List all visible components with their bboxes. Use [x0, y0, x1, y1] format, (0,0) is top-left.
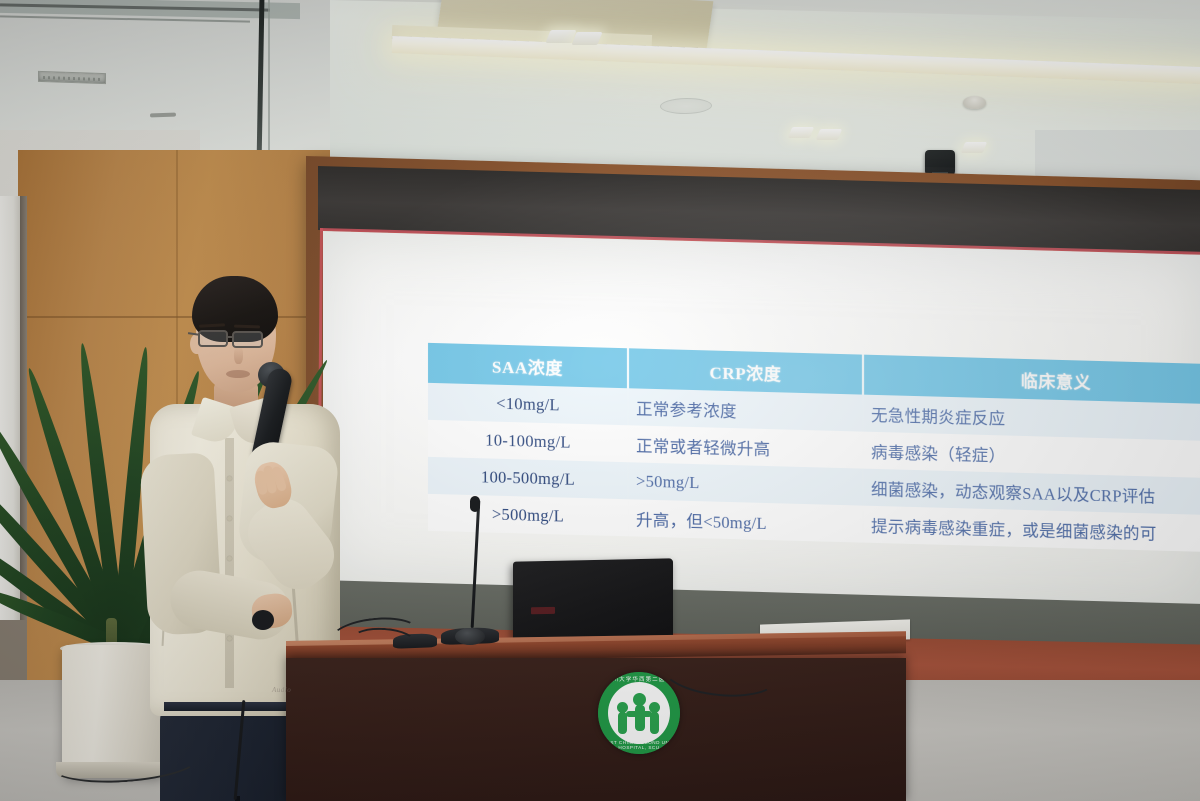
- handheld-microphone-lower: [252, 610, 274, 630]
- ceiling-spotlight-icon: [571, 32, 602, 45]
- shirt-button: [227, 636, 232, 641]
- shirt-button: [227, 556, 232, 561]
- cell-saa: 10-100mg/L: [428, 420, 628, 462]
- slide-table: SAA浓度 CRP浓度 临床意义 <10mg/L 正常参考浓度 无急性期炎症反应…: [428, 343, 1200, 553]
- cell-crp: >50mg/L: [628, 462, 863, 505]
- hospital-logo: 四川大学华西第二医院 WEST CHINA SECOND UNIV. HOSPI…: [598, 672, 680, 754]
- cell-saa: 100-500mg/L: [428, 457, 628, 499]
- microphone-puck: [455, 628, 485, 645]
- shirt-button: [227, 516, 232, 521]
- presenter-mouth: [226, 370, 250, 378]
- cell-crp: 正常参考浓度: [628, 388, 863, 431]
- logo-english-text: WEST CHINA SECOND UNIV. HOSPITAL, SCU: [598, 740, 680, 750]
- shirt-button: [227, 476, 232, 481]
- projected-slide: SAA浓度 CRP浓度 临床意义 <10mg/L 正常参考浓度 无急性期炎症反应…: [323, 231, 1200, 607]
- podium-brand-text: Audio: [272, 686, 328, 695]
- gooseneck-microphone-capsule: [470, 496, 480, 512]
- presenter-nose: [234, 346, 243, 364]
- column-header-saa: SAA浓度: [428, 343, 628, 388]
- door-jamb: [0, 620, 26, 680]
- ceiling-column-highlight: [268, 0, 270, 150]
- ceiling-spotlight-icon: [961, 142, 987, 153]
- air-vent-icon: [38, 71, 106, 84]
- eyeglasses-bridge: [227, 336, 234, 338]
- podium: [286, 658, 906, 801]
- eyeglasses-icon: [198, 330, 228, 347]
- cell-crp: 升高，但<50mg/L: [628, 499, 863, 542]
- column-header-crp: CRP浓度: [628, 348, 863, 394]
- laptop-brand-logo: [531, 607, 555, 615]
- cell-saa: >500mg/L: [428, 494, 628, 536]
- cell-saa: <10mg/L: [428, 383, 628, 425]
- photo-scene: SAA浓度 CRP浓度 临床意义 <10mg/L 正常参考浓度 无急性期炎症反应…: [0, 0, 1200, 801]
- cell-crp: 正常或者轻微升高: [628, 425, 863, 468]
- ceiling-spotlight-icon: [788, 127, 814, 138]
- ceiling-spotlight-icon: [816, 129, 842, 140]
- cell-meaning: 提示病毒感染重症，或是细菌感染的可: [863, 506, 1200, 553]
- smoke-detector-icon: [963, 96, 986, 109]
- logo-figures: [615, 689, 663, 737]
